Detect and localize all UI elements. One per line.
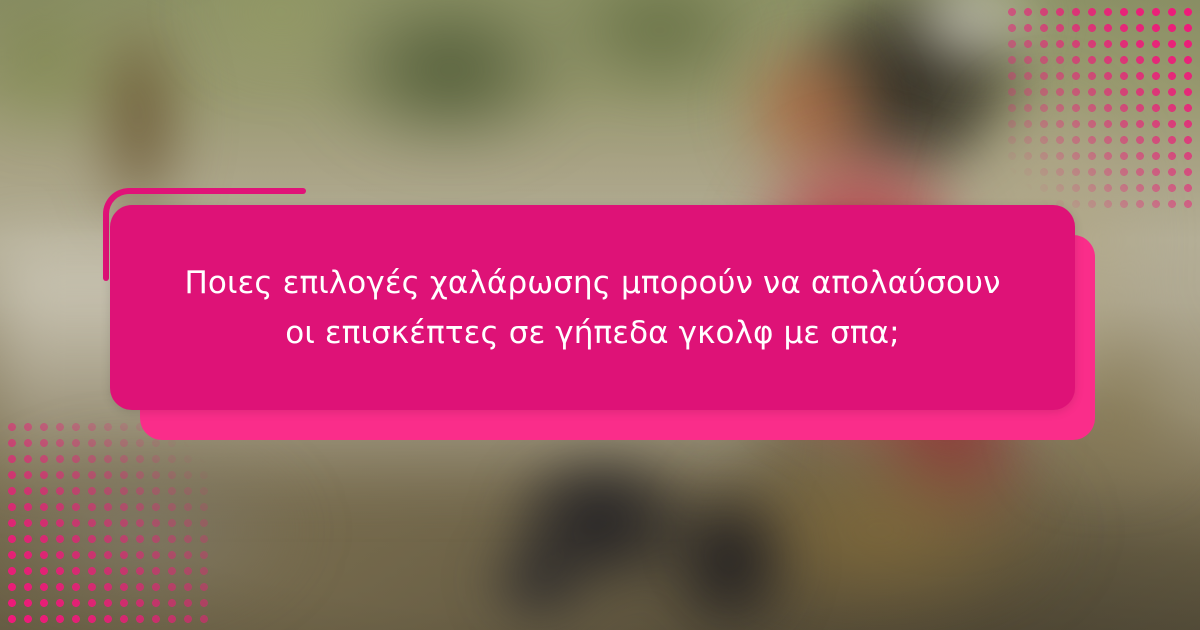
halftone-dots-bottom-left-icon bbox=[0, 415, 210, 630]
headline-text: Ποιες επιλογές χαλάρωσης μπορούν να απολ… bbox=[184, 258, 1000, 358]
headline-container: Ποιες επιλογές χαλάρωσης μπορούν να απολ… bbox=[110, 205, 1075, 410]
halftone-dots-top-right-icon bbox=[1000, 0, 1200, 210]
banner-canvas: Ποιες επιλογές χαλάρωσης μπορούν να απολ… bbox=[0, 0, 1200, 630]
